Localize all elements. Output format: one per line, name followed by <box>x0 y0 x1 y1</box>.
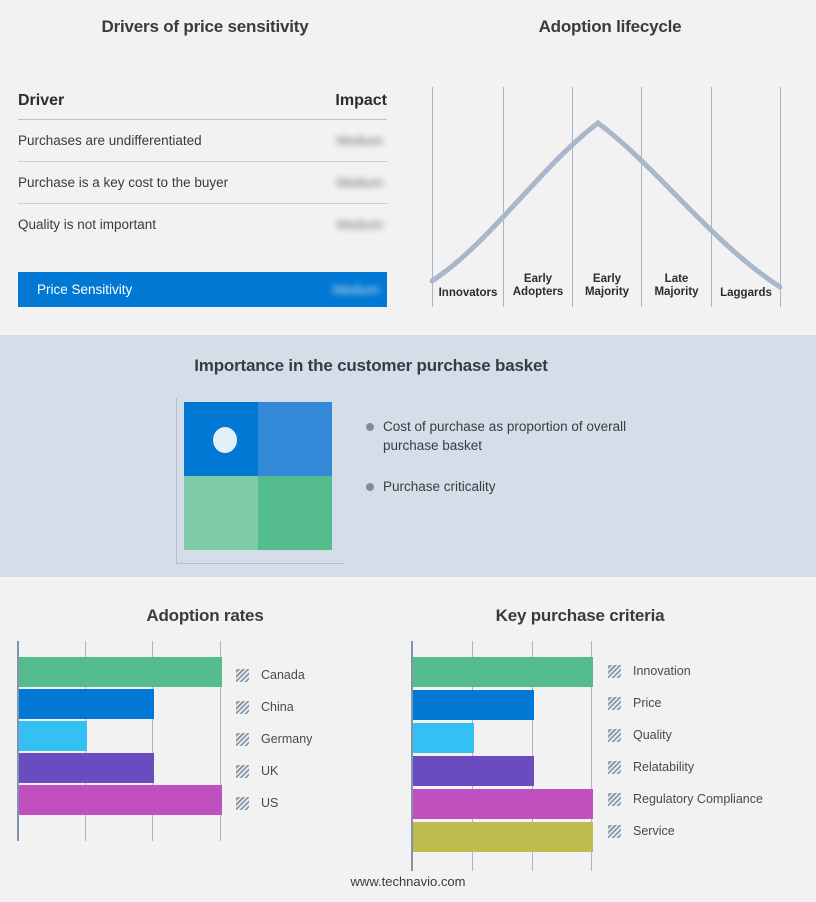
lifecycle-panel-title: Adoption lifecycle <box>410 17 810 37</box>
legend-swatch-icon <box>236 765 249 778</box>
list-item: Price <box>608 687 763 719</box>
lifecycle-label-early-adopters: Early Adopters <box>504 273 572 299</box>
bullet-dot-icon <box>366 423 374 431</box>
legend-label: Purchase criticality <box>383 477 496 496</box>
drivers-table: Driver Impact Purchases are undifferenti… <box>18 92 387 245</box>
bar-relatability <box>413 756 534 786</box>
legend-swatch-icon <box>236 669 249 682</box>
legend-swatch-icon <box>608 729 621 742</box>
adoption-lifecycle-chart: Innovators Early Adopters Early Majority… <box>410 75 800 310</box>
legend-swatch-icon <box>236 733 249 746</box>
legend-label: Relatability <box>633 760 694 774</box>
purchase-basket-legend: Cost of purchase as proportion of overal… <box>366 417 666 518</box>
impact-value: Medium <box>337 217 387 232</box>
legend-label: Innovation <box>633 664 691 678</box>
driver-label: Purchase is a key cost to the buyer <box>18 175 228 190</box>
quadrant-y-axis <box>176 398 177 564</box>
quadrant-cell-top-right <box>258 402 332 476</box>
adoption-rates-panel-title: Adoption rates <box>0 606 410 626</box>
legend-label: UK <box>261 764 278 778</box>
driver-label: Quality is not important <box>18 217 156 232</box>
key-purchase-criteria-panel-title: Key purchase criteria <box>400 606 760 626</box>
lifecycle-label-laggards: Laggards <box>712 287 780 300</box>
bar-service <box>413 822 593 852</box>
adoption-rates-legend: Canada China Germany UK US <box>236 659 312 819</box>
price-sensitivity-highlight-row: Price Sensitivity Medium <box>18 272 387 307</box>
legend-label: Service <box>633 824 675 838</box>
bar-regulatory-compliance <box>413 789 593 819</box>
drivers-panel-title: Drivers of price sensitivity <box>0 17 410 37</box>
legend-label: Price <box>633 696 661 710</box>
basket-panel-title: Importance in the customer purchase bask… <box>0 356 742 376</box>
bar-price <box>413 690 534 720</box>
column-header-impact: Impact <box>335 92 387 110</box>
drivers-table-header: Driver Impact <box>18 92 387 120</box>
key-purchase-criteria-legend: Innovation Price Quality Relatability Re… <box>608 655 763 847</box>
legend-swatch-icon <box>608 793 621 806</box>
list-item: Quality <box>608 719 763 751</box>
bar-china <box>19 689 154 719</box>
legend-label: Cost of purchase as proportion of overal… <box>383 417 633 455</box>
lifecycle-bell-curve <box>432 123 780 287</box>
list-item: Service <box>608 815 763 847</box>
purchase-basket-quadrant-chart <box>176 398 344 564</box>
legend-swatch-icon <box>608 697 621 710</box>
legend-label: Regulatory Compliance <box>633 792 763 806</box>
quadrant-marker-bubble <box>213 427 237 453</box>
list-item: UK <box>236 755 312 787</box>
legend-swatch-icon <box>608 761 621 774</box>
bar-quality <box>413 723 474 753</box>
lifecycle-label-late-majority: Late Majority <box>642 273 711 299</box>
table-row: Purchases are undifferentiated Medium <box>18 120 387 162</box>
quadrant-grid <box>184 402 332 550</box>
bullet-dot-icon <box>366 483 374 491</box>
list-item: US <box>236 787 312 819</box>
legend-swatch-icon <box>236 701 249 714</box>
bar-canada <box>19 657 222 687</box>
legend-swatch-icon <box>236 797 249 810</box>
legend-label: US <box>261 796 278 810</box>
list-item: Relatability <box>608 751 763 783</box>
list-item: Germany <box>236 723 312 755</box>
quadrant-cell-bottom-left <box>184 476 258 550</box>
bar-us <box>19 785 222 815</box>
bar-germany <box>19 721 87 751</box>
key-purchase-criteria-chart <box>411 641 603 871</box>
legend-swatch-icon <box>608 665 621 678</box>
column-header-driver: Driver <box>18 92 64 110</box>
quadrant-cell-bottom-right <box>258 476 332 550</box>
table-row: Purchase is a key cost to the buyer Medi… <box>18 162 387 204</box>
driver-label: Purchases are undifferentiated <box>18 133 202 148</box>
bar-innovation <box>413 657 593 687</box>
bar-uk <box>19 753 154 783</box>
legend-swatch-icon <box>608 825 621 838</box>
legend-label: Canada <box>261 668 305 682</box>
list-item: Innovation <box>608 655 763 687</box>
price-sensitivity-impact: Medium <box>333 282 383 297</box>
lifecycle-label-early-majority: Early Majority <box>573 273 641 299</box>
price-sensitivity-label: Price Sensitivity <box>37 282 132 297</box>
adoption-rates-chart <box>17 641 222 841</box>
impact-value: Medium <box>337 175 387 190</box>
legend-label: Germany <box>261 732 312 746</box>
footer-url: www.technavio.com <box>0 874 816 889</box>
list-item: Canada <box>236 659 312 691</box>
list-item: China <box>236 691 312 723</box>
impact-value: Medium <box>337 133 387 148</box>
list-item: Purchase criticality <box>366 477 666 496</box>
legend-label: China <box>261 700 294 714</box>
infographic-page: Drivers of price sensitivity Driver Impa… <box>0 0 816 902</box>
lifecycle-label-innovators: Innovators <box>432 287 504 300</box>
table-row: Quality is not important Medium <box>18 204 387 245</box>
list-item: Regulatory Compliance <box>608 783 763 815</box>
quadrant-x-axis <box>176 563 344 564</box>
list-item: Cost of purchase as proportion of overal… <box>366 417 666 455</box>
quadrant-cell-top-left <box>184 402 258 476</box>
legend-label: Quality <box>633 728 672 742</box>
